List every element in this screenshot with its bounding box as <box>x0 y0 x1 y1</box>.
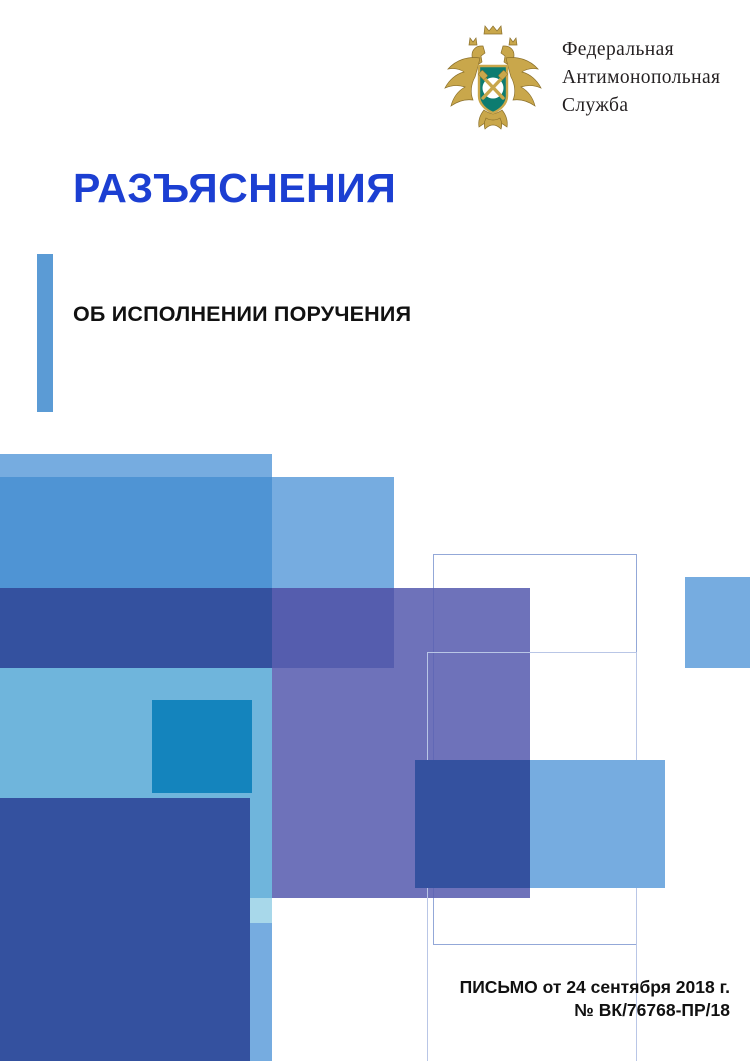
organization-name: Федеральная Антимонопольная Служба <box>562 36 720 119</box>
document-reference-number: № ВК/76768-ПР/18 <box>460 999 730 1023</box>
title-accent-bar <box>37 254 53 412</box>
organization-name-line2: Антимонопольная <box>562 64 720 92</box>
document-reference: ПИСЬМО от 24 сентября 2018 г. № ВК/76768… <box>460 976 730 1023</box>
block-light-upper <box>272 477 394 588</box>
block-purple-large <box>272 588 530 898</box>
block-light-right-edge <box>685 577 750 668</box>
block-dark-mid <box>0 798 250 898</box>
page-title: РАЗЪЯСНЕНИЯ <box>73 168 396 209</box>
geometric-background-art <box>0 0 750 1061</box>
russian-double-headed-eagle-emblem <box>440 22 546 134</box>
block-dark-bottom <box>0 875 250 1061</box>
band-dark-wide <box>0 588 394 668</box>
block-dark-lower-right <box>415 760 530 888</box>
page-subtitle: ОБ ИСПОЛНЕНИИ ПОРУЧЕНИЯ <box>73 304 411 326</box>
band-medium-left <box>0 477 272 588</box>
square-teal-accent <box>152 700 252 793</box>
document-reference-date: ПИСЬМО от 24 сентября 2018 г. <box>460 976 730 1000</box>
document-cover-page: Федеральная Антимонопольная Служба РАЗЪЯ… <box>0 0 750 1061</box>
organization-name-line3: Служба <box>562 92 720 120</box>
organization-logo: Федеральная Антимонопольная Служба <box>440 18 740 138</box>
block-sky-left <box>0 668 272 898</box>
organization-name-line1: Федеральная <box>562 36 720 64</box>
frame-outer-large <box>433 554 637 945</box>
block-light-lower-right <box>530 760 665 888</box>
square-pale-small <box>250 898 272 923</box>
strip-sky-vertical <box>250 898 272 1061</box>
band-light-top <box>0 454 272 477</box>
